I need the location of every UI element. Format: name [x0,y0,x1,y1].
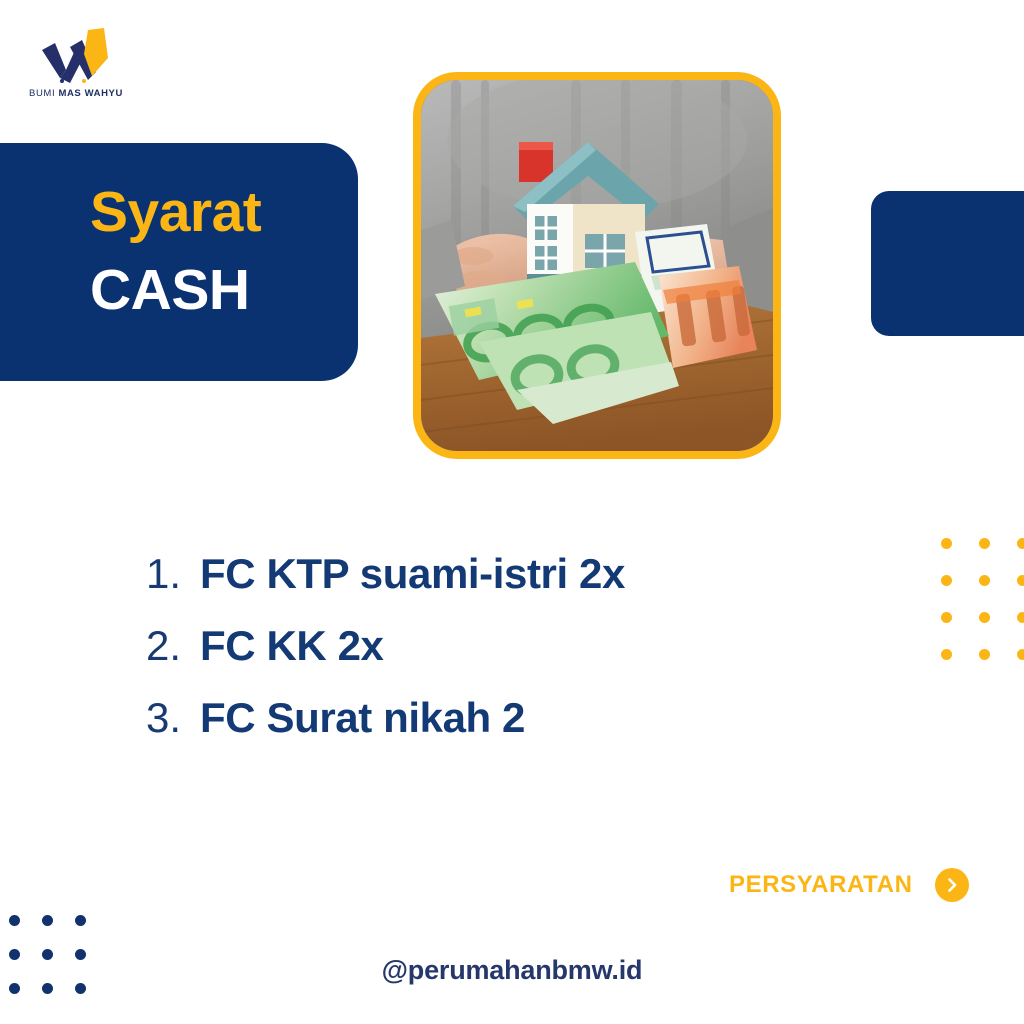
brand-name-light: BUMI [29,88,55,99]
list-item: 2. FC KK 2x [146,615,906,677]
decor-dot [941,612,952,623]
decor-dot [42,915,53,926]
decor-dot [941,575,952,586]
decor-dot [1017,612,1024,623]
list-item-text: FC KTP suami-istri 2x [200,543,625,605]
decor-dot [979,575,990,586]
brand-name: BUMI MAS WAHYU [20,88,132,99]
heading-banner: Syarat CASH [0,143,358,381]
decor-dot [979,538,990,549]
cta-group[interactable]: PERSYARATAN [729,868,969,902]
list-item: 3. FC Surat nikah 2 [146,687,906,749]
list-item: 1. FC KTP suami-istri 2x [146,543,906,605]
decor-dot [1017,538,1024,549]
bmw-monogram-icon [26,26,126,88]
decor-dot [941,538,952,549]
poster-canvas: BUMI MAS WAHYU Syarat CASH [0,0,1024,1024]
hero-photo-card [413,72,781,459]
list-item-number: 2. [146,615,200,677]
heading-banner-text: Syarat CASH [90,183,358,321]
list-item-text: FC KK 2x [200,615,384,677]
chevron-right-icon [944,877,960,893]
decor-dot-grid-yellow [941,538,1024,686]
decor-navy-block [871,191,1024,336]
cta-label: PERSYARATAN [729,871,913,899]
decor-dot [75,915,86,926]
decor-dot [979,649,990,660]
decor-dot [941,649,952,660]
requirements-list: 1. FC KTP suami-istri 2x 2. FC KK 2x 3. … [146,543,906,759]
decor-dot [1017,575,1024,586]
list-item-number: 1. [146,543,200,605]
list-item-number: 3. [146,687,200,749]
decor-dot [979,612,990,623]
brand-logo[interactable]: BUMI MAS WAHYU [20,26,132,110]
hero-photo [421,80,773,451]
decor-dot [1017,649,1024,660]
social-handle[interactable]: @perumahanbmw.id [0,955,1024,986]
cta-next-button[interactable] [935,868,969,902]
heading-line-2: CASH [90,261,358,321]
list-item-text: FC Surat nikah 2 [200,687,525,749]
decor-dot [9,915,20,926]
heading-line-1: Syarat [90,183,358,243]
brand-name-bold: MAS WAHYU [58,88,123,99]
